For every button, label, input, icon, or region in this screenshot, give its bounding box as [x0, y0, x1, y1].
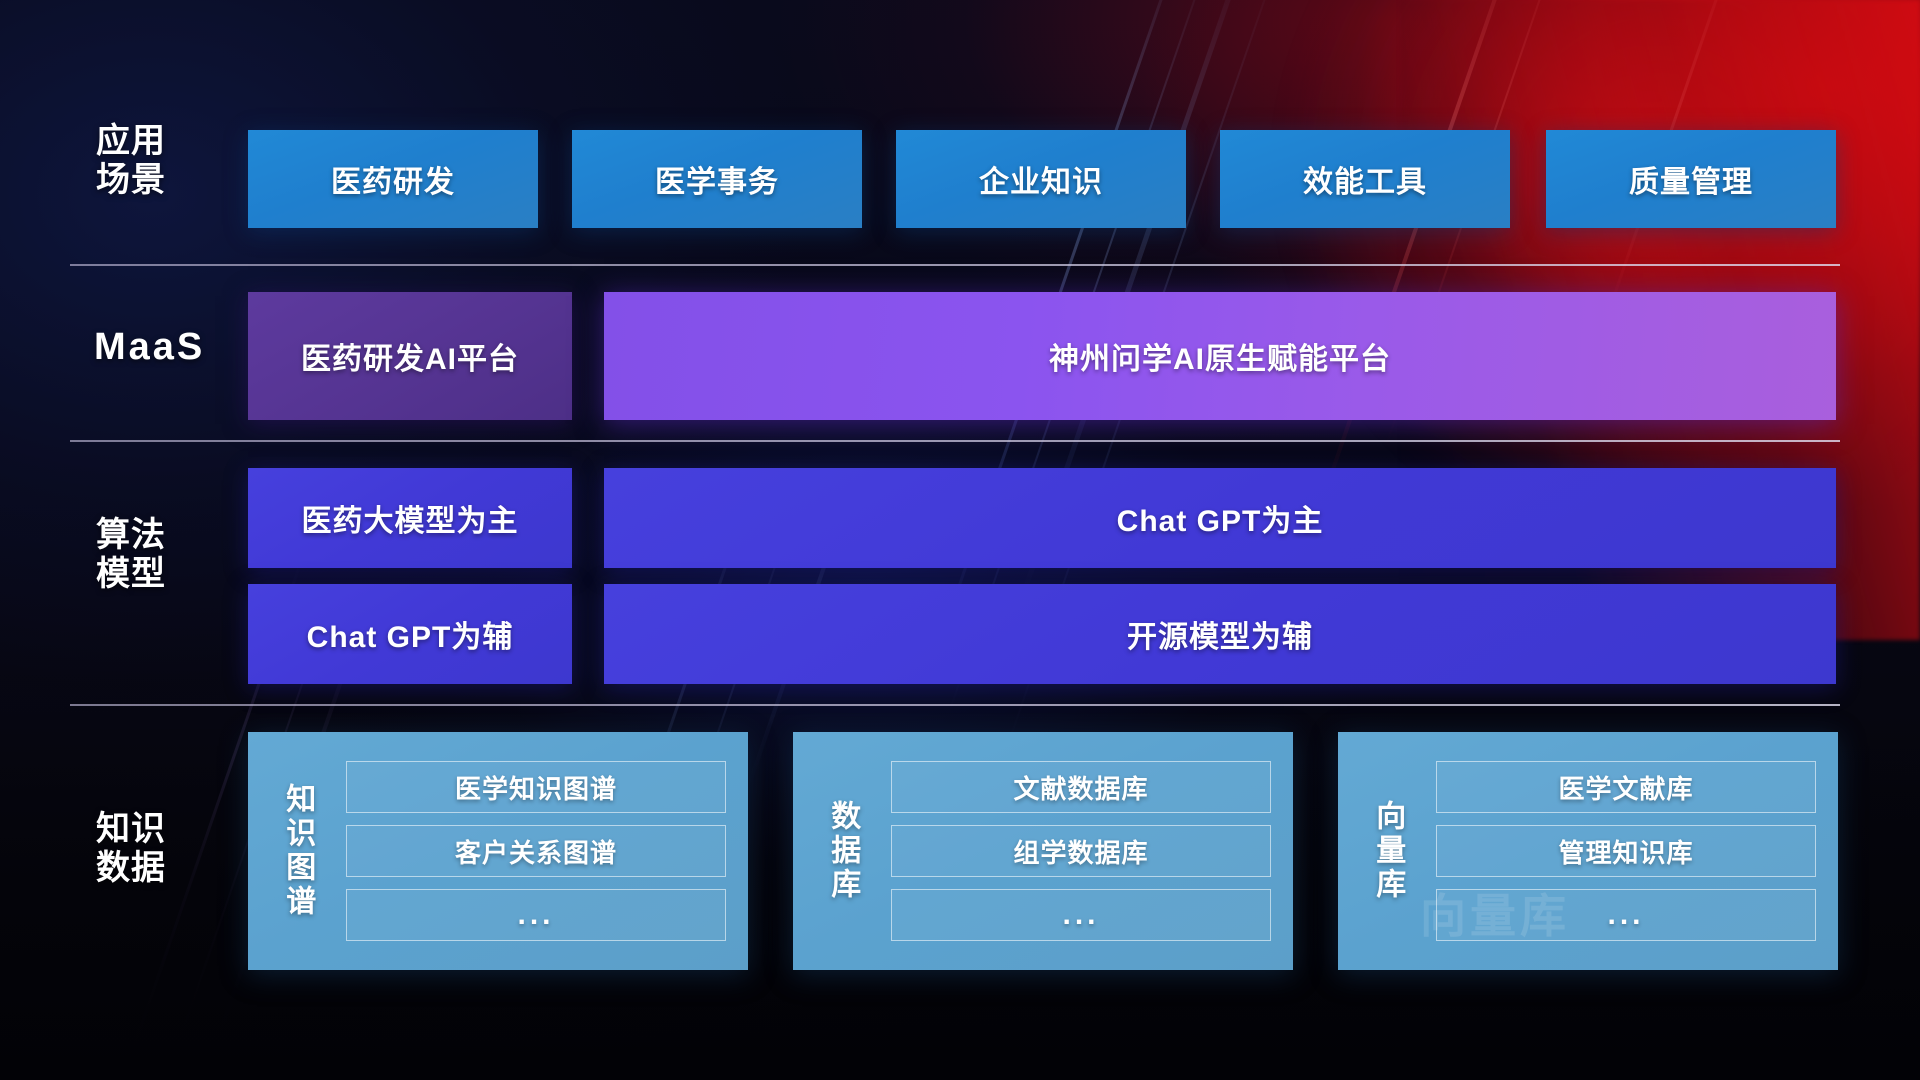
- divider-2: [70, 440, 1840, 442]
- divider-1: [70, 264, 1840, 266]
- knowledge-panel-database[interactable]: 数据库 文献数据库 组学数据库 ...: [793, 732, 1293, 970]
- knowledge-item-database-2-label: 组学数据库: [1013, 833, 1148, 870]
- knowledge-item-database-1-label: 文献数据库: [1013, 769, 1148, 806]
- app-card-3-label: 企业知识: [979, 157, 1103, 201]
- knowledge-item-database-2[interactable]: 组学数据库: [891, 825, 1271, 877]
- knowledge-item-database-3-label: ...: [1062, 898, 1099, 932]
- app-card-1[interactable]: 医药研发: [248, 130, 538, 228]
- knowledge-item-vector-1[interactable]: 医学文献库: [1436, 761, 1816, 813]
- algo-card-chatgpt-primary[interactable]: Chat GPT为主: [604, 468, 1836, 568]
- app-card-2-label: 医学事务: [655, 157, 779, 201]
- app-card-4-label: 效能工具: [1303, 157, 1427, 201]
- algo-card-pharma-model-primary[interactable]: 医药大模型为主: [248, 468, 572, 568]
- maas-card-pharma-ai-platform[interactable]: 医药研发AI平台: [248, 292, 572, 420]
- algo-card-chatgpt-primary-label: Chat GPT为主: [1117, 496, 1324, 540]
- algo-card-opensource-secondary[interactable]: 开源模型为辅: [604, 584, 1836, 684]
- knowledge-panel-graph-title: 知识图谱: [264, 783, 330, 919]
- knowledge-panel-vector-title: 向量库: [1354, 800, 1420, 902]
- app-card-5[interactable]: 质量管理: [1546, 130, 1836, 228]
- knowledge-item-graph-1[interactable]: 医学知识图谱: [346, 761, 726, 813]
- knowledge-item-graph-3-label: ...: [517, 898, 554, 932]
- knowledge-panel-database-title: 数据库: [809, 800, 875, 902]
- app-card-3[interactable]: 企业知识: [896, 130, 1186, 228]
- algo-card-chatgpt-secondary-label: Chat GPT为辅: [307, 612, 514, 656]
- knowledge-item-vector-3-label: ...: [1607, 898, 1644, 932]
- knowledge-item-database-3[interactable]: ...: [891, 889, 1271, 941]
- app-card-5-label: 质量管理: [1629, 157, 1753, 201]
- knowledge-item-database-1[interactable]: 文献数据库: [891, 761, 1271, 813]
- knowledge-item-vector-1-label: 医学文献库: [1558, 769, 1693, 806]
- algo-card-chatgpt-secondary[interactable]: Chat GPT为辅: [248, 584, 572, 684]
- knowledge-panel-graph[interactable]: 知识图谱 医学知识图谱 客户关系图谱 ...: [248, 732, 748, 970]
- algo-card-pharma-model-primary-label: 医药大模型为主: [302, 496, 519, 540]
- row-label-application-scenario: 应用 场景: [96, 122, 246, 201]
- row-label-algorithm-model: 算法 模型: [96, 516, 246, 595]
- knowledge-panel-graph-items: 医学知识图谱 客户关系图谱 ...: [330, 745, 748, 957]
- knowledge-panel-vector[interactable]: 向量库 医学文献库 管理知识库 ...: [1338, 732, 1838, 970]
- knowledge-item-vector-3[interactable]: ...: [1436, 889, 1816, 941]
- app-card-2[interactable]: 医学事务: [572, 130, 862, 228]
- app-card-4[interactable]: 效能工具: [1220, 130, 1510, 228]
- knowledge-item-graph-2[interactable]: 客户关系图谱: [346, 825, 726, 877]
- knowledge-panel-database-items: 文献数据库 组学数据库 ...: [875, 745, 1293, 957]
- divider-3: [70, 704, 1840, 706]
- knowledge-item-vector-2-label: 管理知识库: [1558, 833, 1693, 870]
- maas-card-shenzhou-platform-label: 神州问学AI原生赋能平台: [1049, 334, 1391, 378]
- knowledge-item-vector-2[interactable]: 管理知识库: [1436, 825, 1816, 877]
- knowledge-item-graph-2-label: 客户关系图谱: [455, 833, 617, 870]
- row-label-knowledge-data: 知识 数据: [96, 810, 246, 889]
- knowledge-item-graph-1-label: 医学知识图谱: [455, 769, 617, 806]
- knowledge-panel-vector-items: 医学文献库 管理知识库 ...: [1420, 745, 1838, 957]
- maas-card-shenzhou-platform[interactable]: 神州问学AI原生赋能平台: [604, 292, 1836, 420]
- knowledge-item-graph-3[interactable]: ...: [346, 889, 726, 941]
- maas-card-pharma-ai-platform-label: 医药研发AI平台: [301, 334, 519, 378]
- app-card-1-label: 医药研发: [331, 157, 455, 201]
- algo-card-opensource-secondary-label: 开源模型为辅: [1127, 612, 1313, 656]
